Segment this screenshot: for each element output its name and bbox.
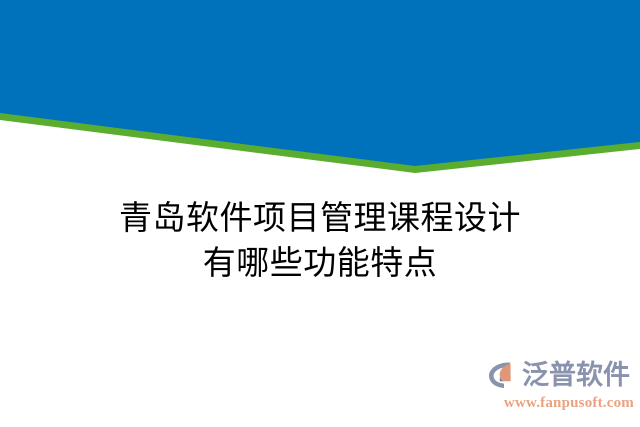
page-title-line-1: 青岛软件项目管理课程设计 [0,198,640,240]
page-title-line-2: 有哪些功能特点 [0,243,640,285]
banner-blue-shape [0,0,640,166]
chevron-banner [0,0,640,185]
brand-logo-row: 泛普软件 [486,357,634,393]
fanpu-c-mark-icon [486,359,520,391]
page-title: 青岛软件项目管理课程设计 有哪些功能特点 [0,198,640,285]
brand-url: www.fanpusoft.com [486,396,634,411]
brand-watermark: 泛普软件 www.fanpusoft.com [486,357,634,415]
slide-canvas: 青岛软件项目管理课程设计 有哪些功能特点 泛普软件 www.fanpusoft.… [0,0,640,427]
brand-name: 泛普软件 [522,362,630,389]
banner-green-accent [0,0,640,173]
